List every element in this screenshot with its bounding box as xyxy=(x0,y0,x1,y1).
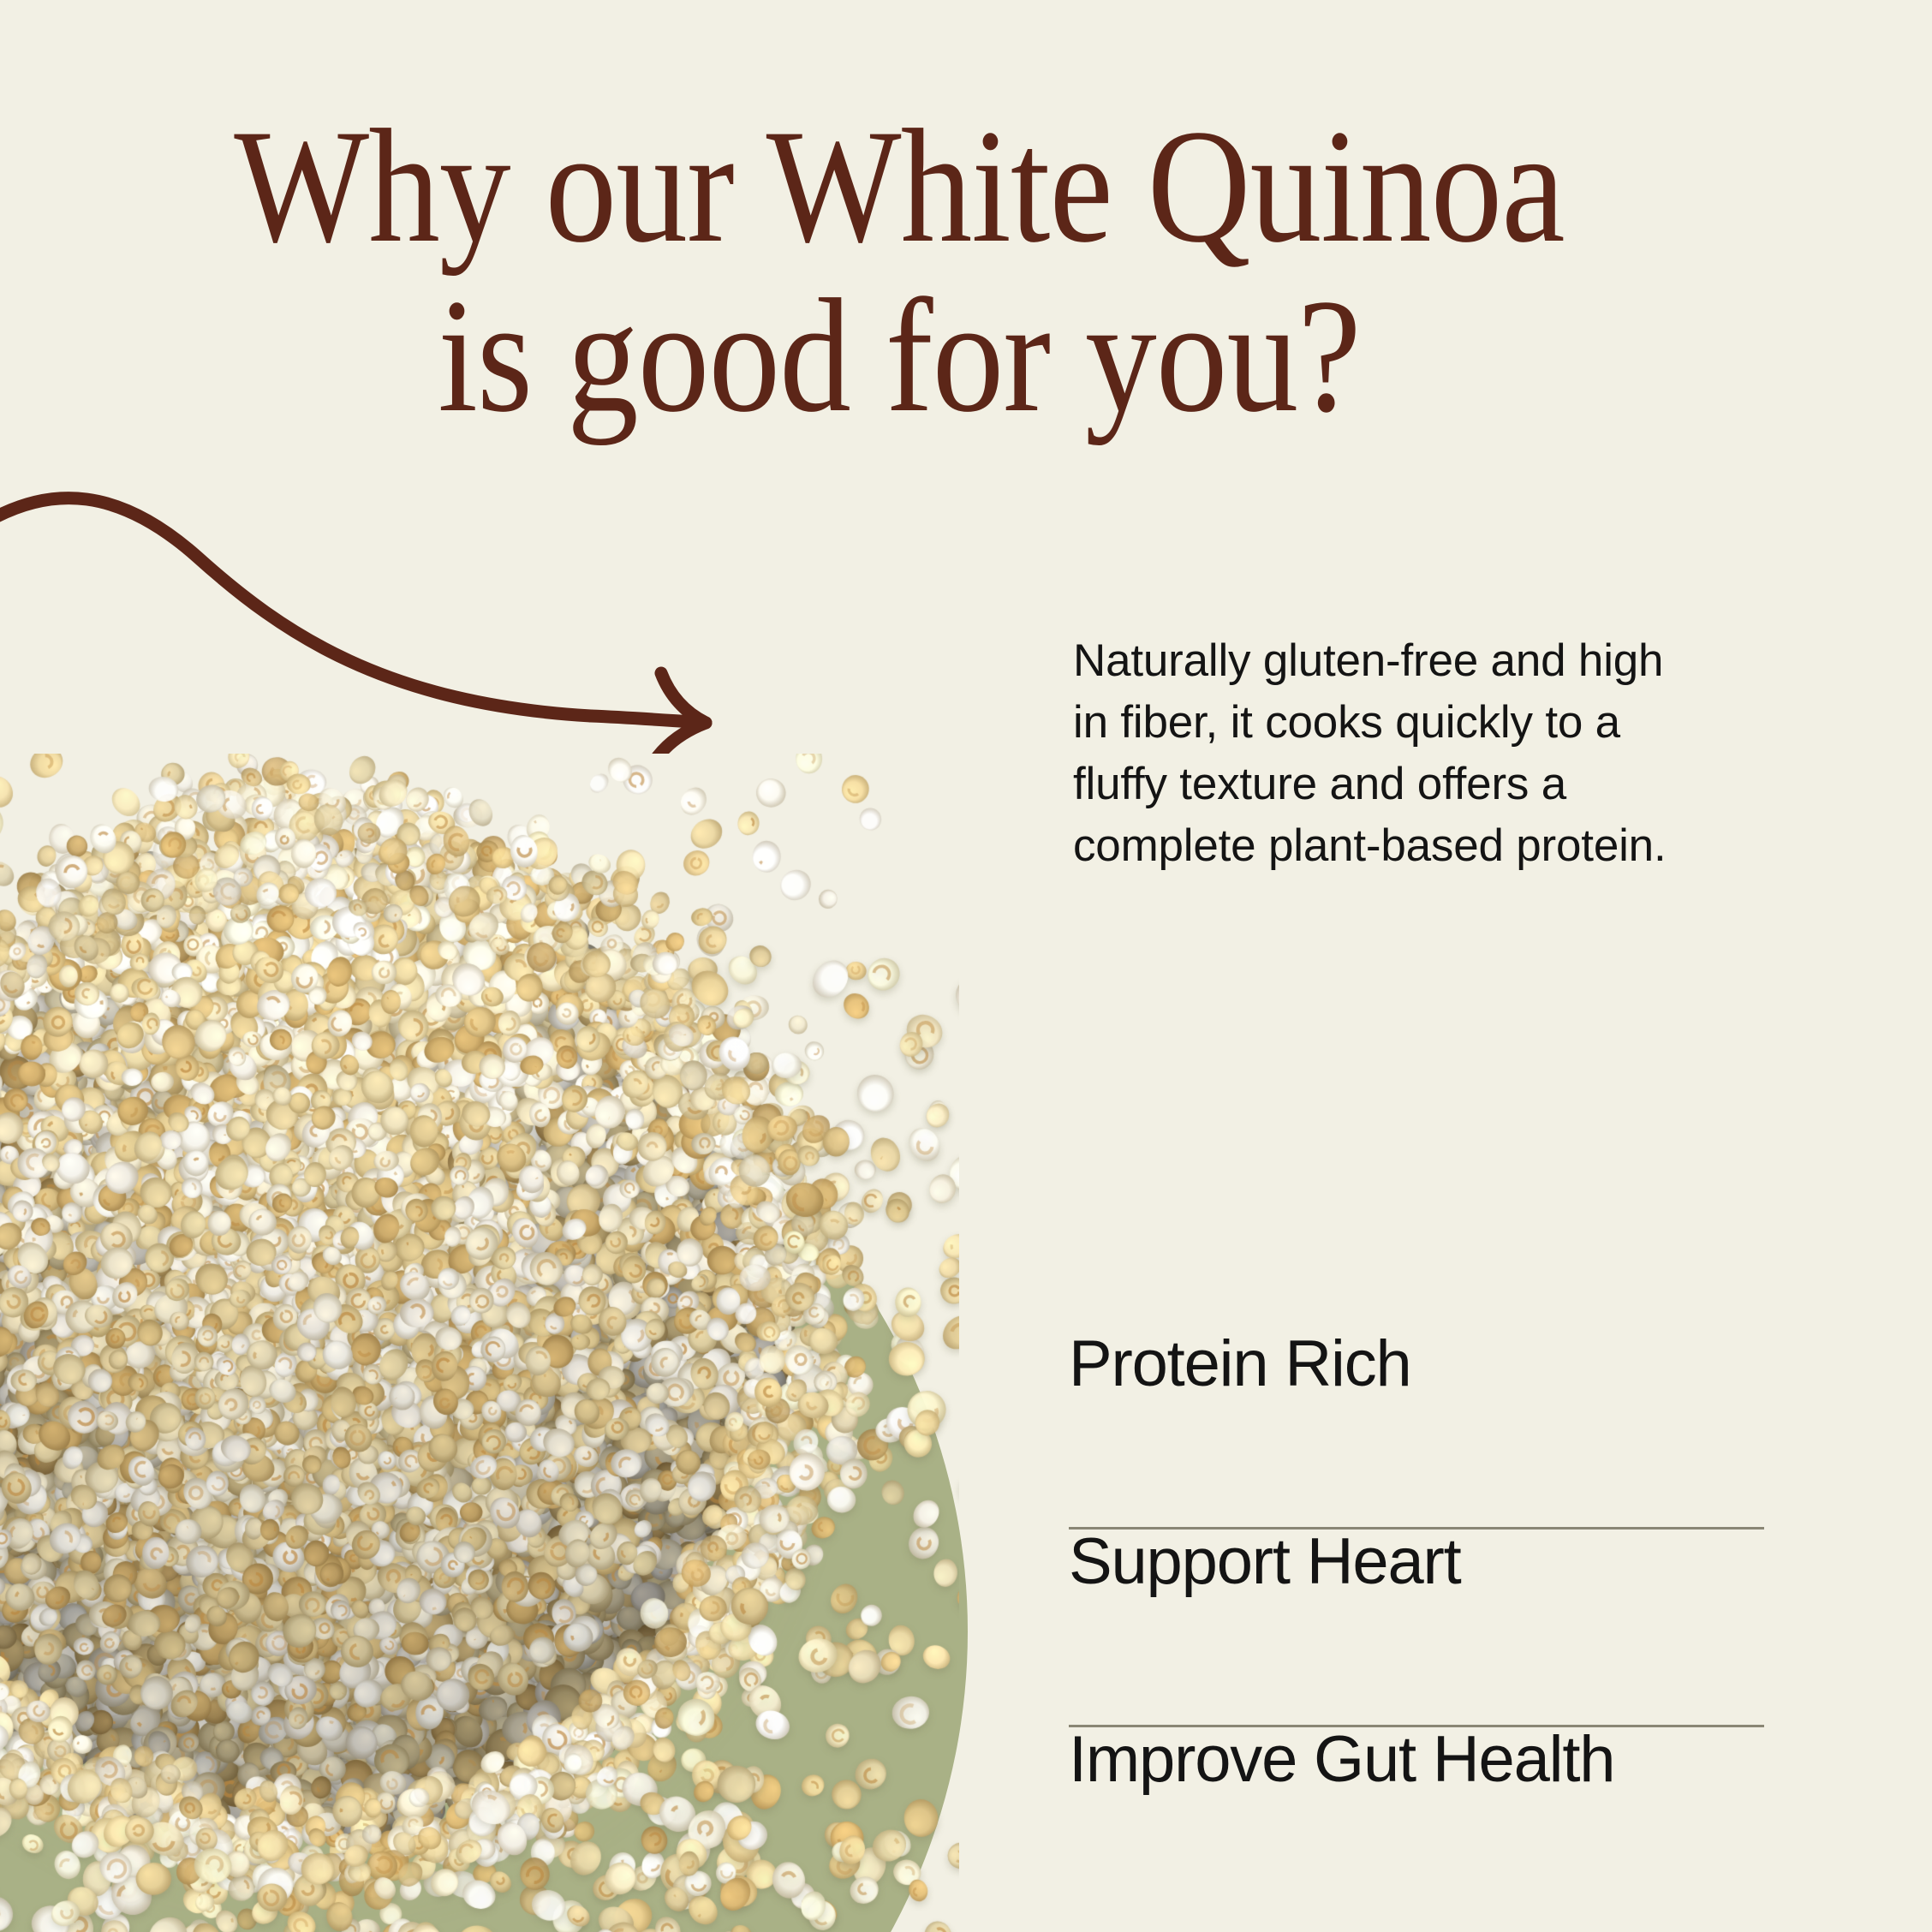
page-title-line-2: is good for you? xyxy=(108,272,1690,442)
poster-canvas: Why our White Quinoa is good for you? Na… xyxy=(0,0,1932,1932)
benefit-label: Improve Gut Health xyxy=(1069,1727,1614,1792)
curved-arrow-icon xyxy=(0,462,771,754)
intro-paragraph: Naturally gluten-free and high in fiber,… xyxy=(1073,630,1698,877)
page-title: Why our White Quinoa is good for you? xyxy=(108,103,1690,441)
benefit-item-support-heart[interactable]: Support Heart xyxy=(1069,1529,1764,1727)
benefit-item-protein-rich[interactable]: Protein Rich xyxy=(1069,1332,1764,1529)
benefit-item-improve-gut-health[interactable]: Improve Gut Health xyxy=(1069,1727,1764,1925)
page-title-line-1: Why our White Quinoa xyxy=(108,103,1690,272)
sage-circle-backdrop xyxy=(0,1006,968,1932)
benefits-list: Protein Rich Support Heart Improve Gut H… xyxy=(1069,1332,1764,1925)
benefit-label: Support Heart xyxy=(1069,1529,1461,1595)
benefit-label: Protein Rich xyxy=(1069,1332,1411,1397)
